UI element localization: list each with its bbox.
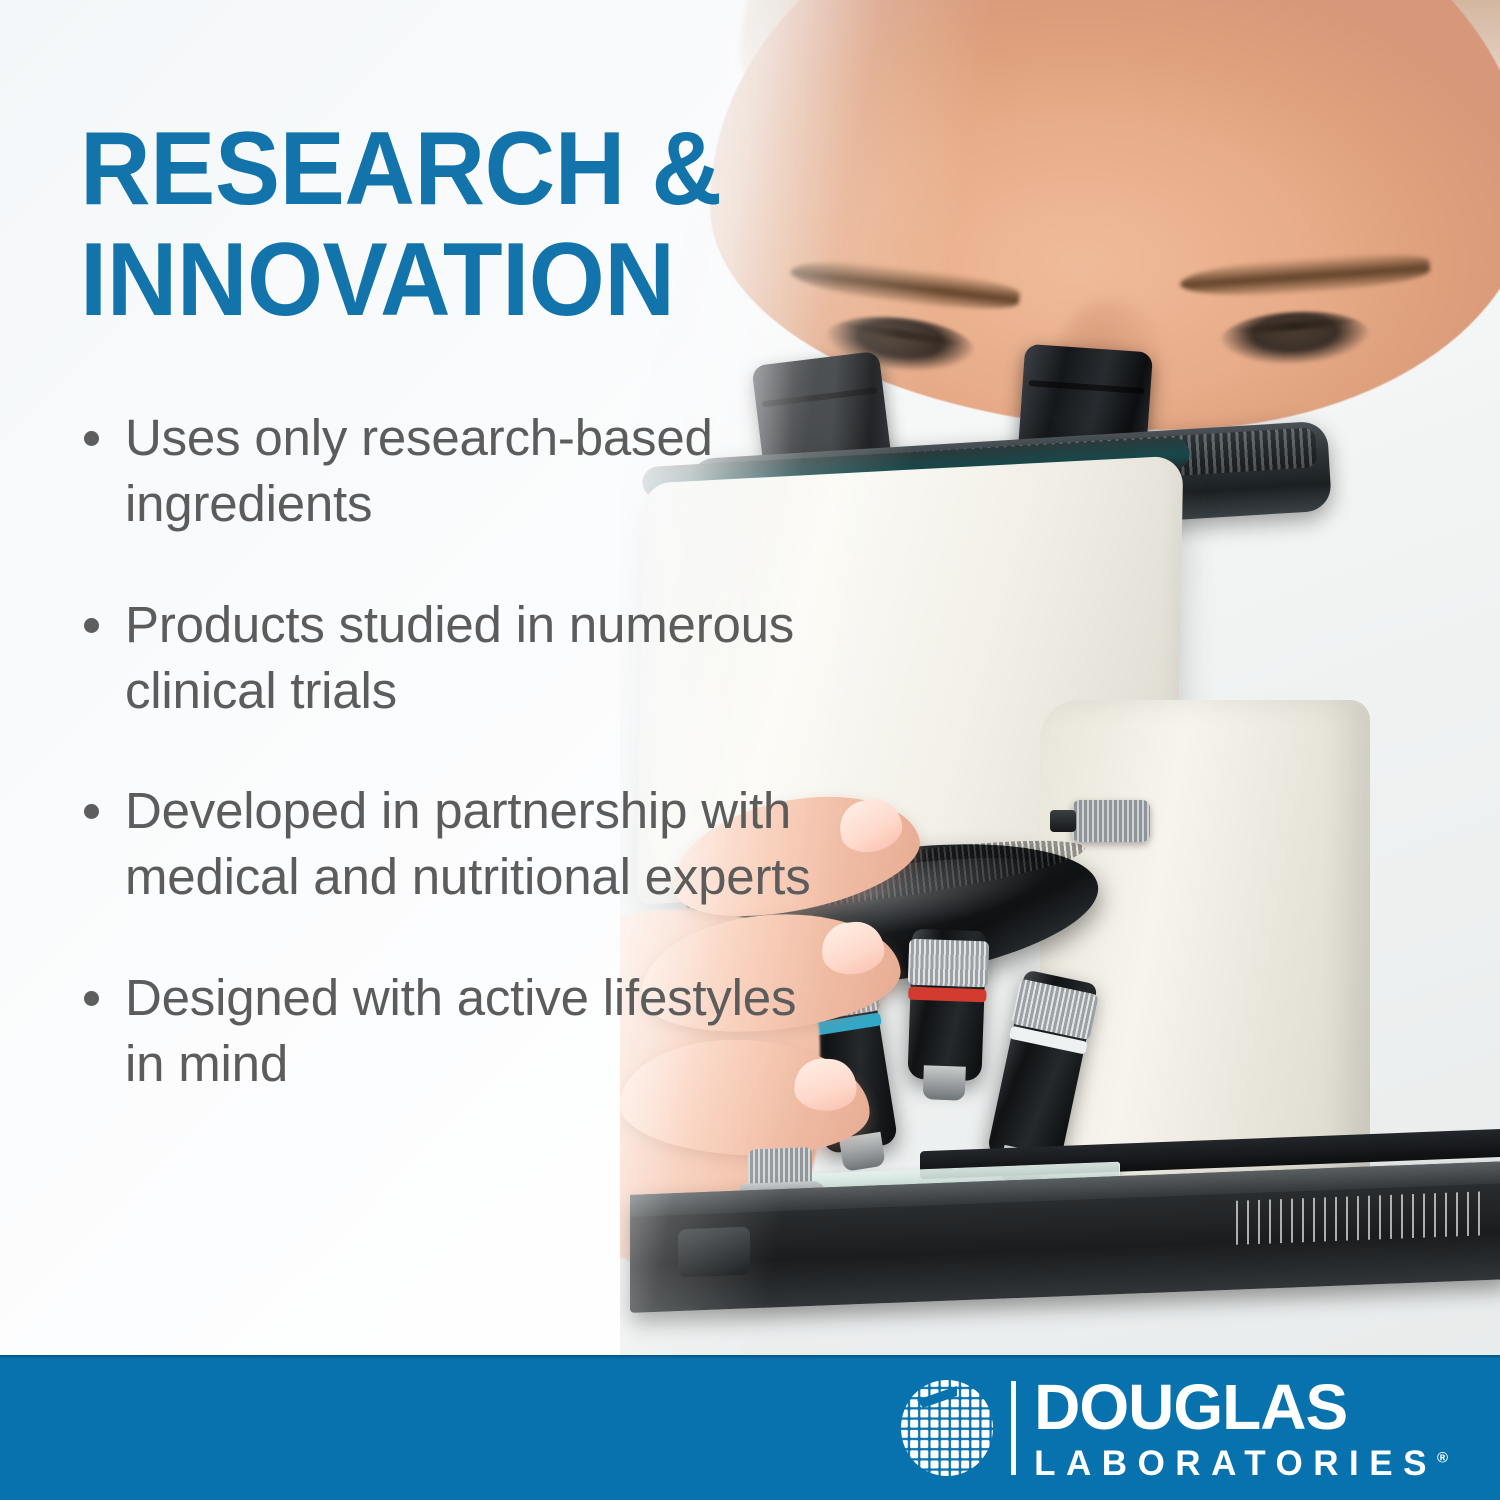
brand-footer-bar: DOUGLAS LABORATORIES®	[0, 1355, 1500, 1500]
bullet-text: Designed with active lifestyles in mind	[125, 965, 825, 1098]
list-item: Uses only research-based ingredients	[80, 405, 880, 538]
bullet-text: Uses only research-based ingredients	[125, 405, 825, 538]
logo-wordmark: DOUGLAS LABORATORIES®	[1034, 1375, 1448, 1481]
logo-brand-secondary-text: LABORATORIES	[1034, 1444, 1437, 1483]
bullet-dot-icon	[84, 618, 99, 633]
footer-top-edge	[0, 1355, 1500, 1359]
feature-bullet-list: Uses only research-based ingredients Pro…	[80, 405, 880, 1151]
condenser-knob	[678, 1227, 750, 1278]
list-item: Designed with active lifestyles in mind	[80, 965, 880, 1098]
logo-brand-primary: DOUGLAS	[1034, 1375, 1448, 1439]
bullet-dot-icon	[84, 991, 99, 1006]
list-item: Products studied in numerous clinical tr…	[80, 592, 880, 725]
bullet-dot-icon	[84, 804, 99, 819]
douglas-grid-circle-mark-icon	[899, 1378, 995, 1478]
logo-divider	[1011, 1381, 1016, 1475]
logo-brand-secondary: LABORATORIES®	[1034, 1446, 1448, 1481]
page-title: RESEARCH & INNOVATION	[80, 114, 766, 337]
microscope-focus-knob	[1072, 800, 1150, 842]
bullet-dot-icon	[84, 431, 99, 446]
list-item: Developed in partnership with medical an…	[80, 778, 880, 911]
bullet-text: Developed in partnership with medical an…	[125, 778, 825, 911]
registered-trademark-icon: ®	[1437, 1449, 1448, 1466]
bullet-text: Products studied in numerous clinical tr…	[125, 592, 825, 725]
poster-canvas: RESEARCH & INNOVATION Uses only research…	[0, 0, 1500, 1500]
douglas-laboratories-logo: DOUGLAS LABORATORIES®	[899, 1375, 1448, 1481]
